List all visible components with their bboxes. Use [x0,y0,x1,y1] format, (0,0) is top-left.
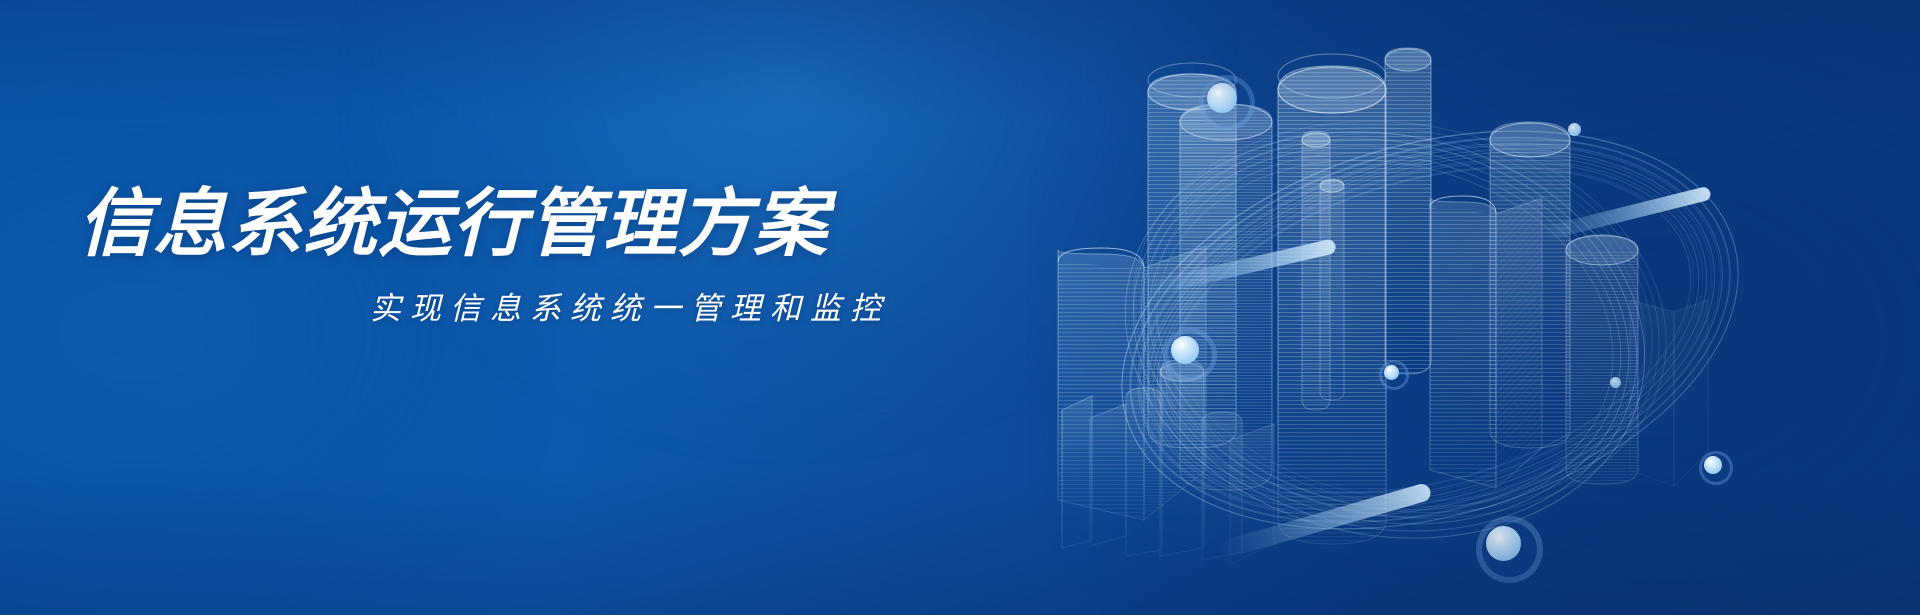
banner-subtitle: 实现信息系统统一管理和监控 [78,283,918,328]
banner-title: 信息系统运行管理方案 [78,186,918,261]
banner-text-block: 信息系统运行管理方案 实现信息系统统一管理和监控 [78,186,918,328]
hero-banner: 信息系统运行管理方案 实现信息系统统一管理和监控 [0,0,1920,615]
